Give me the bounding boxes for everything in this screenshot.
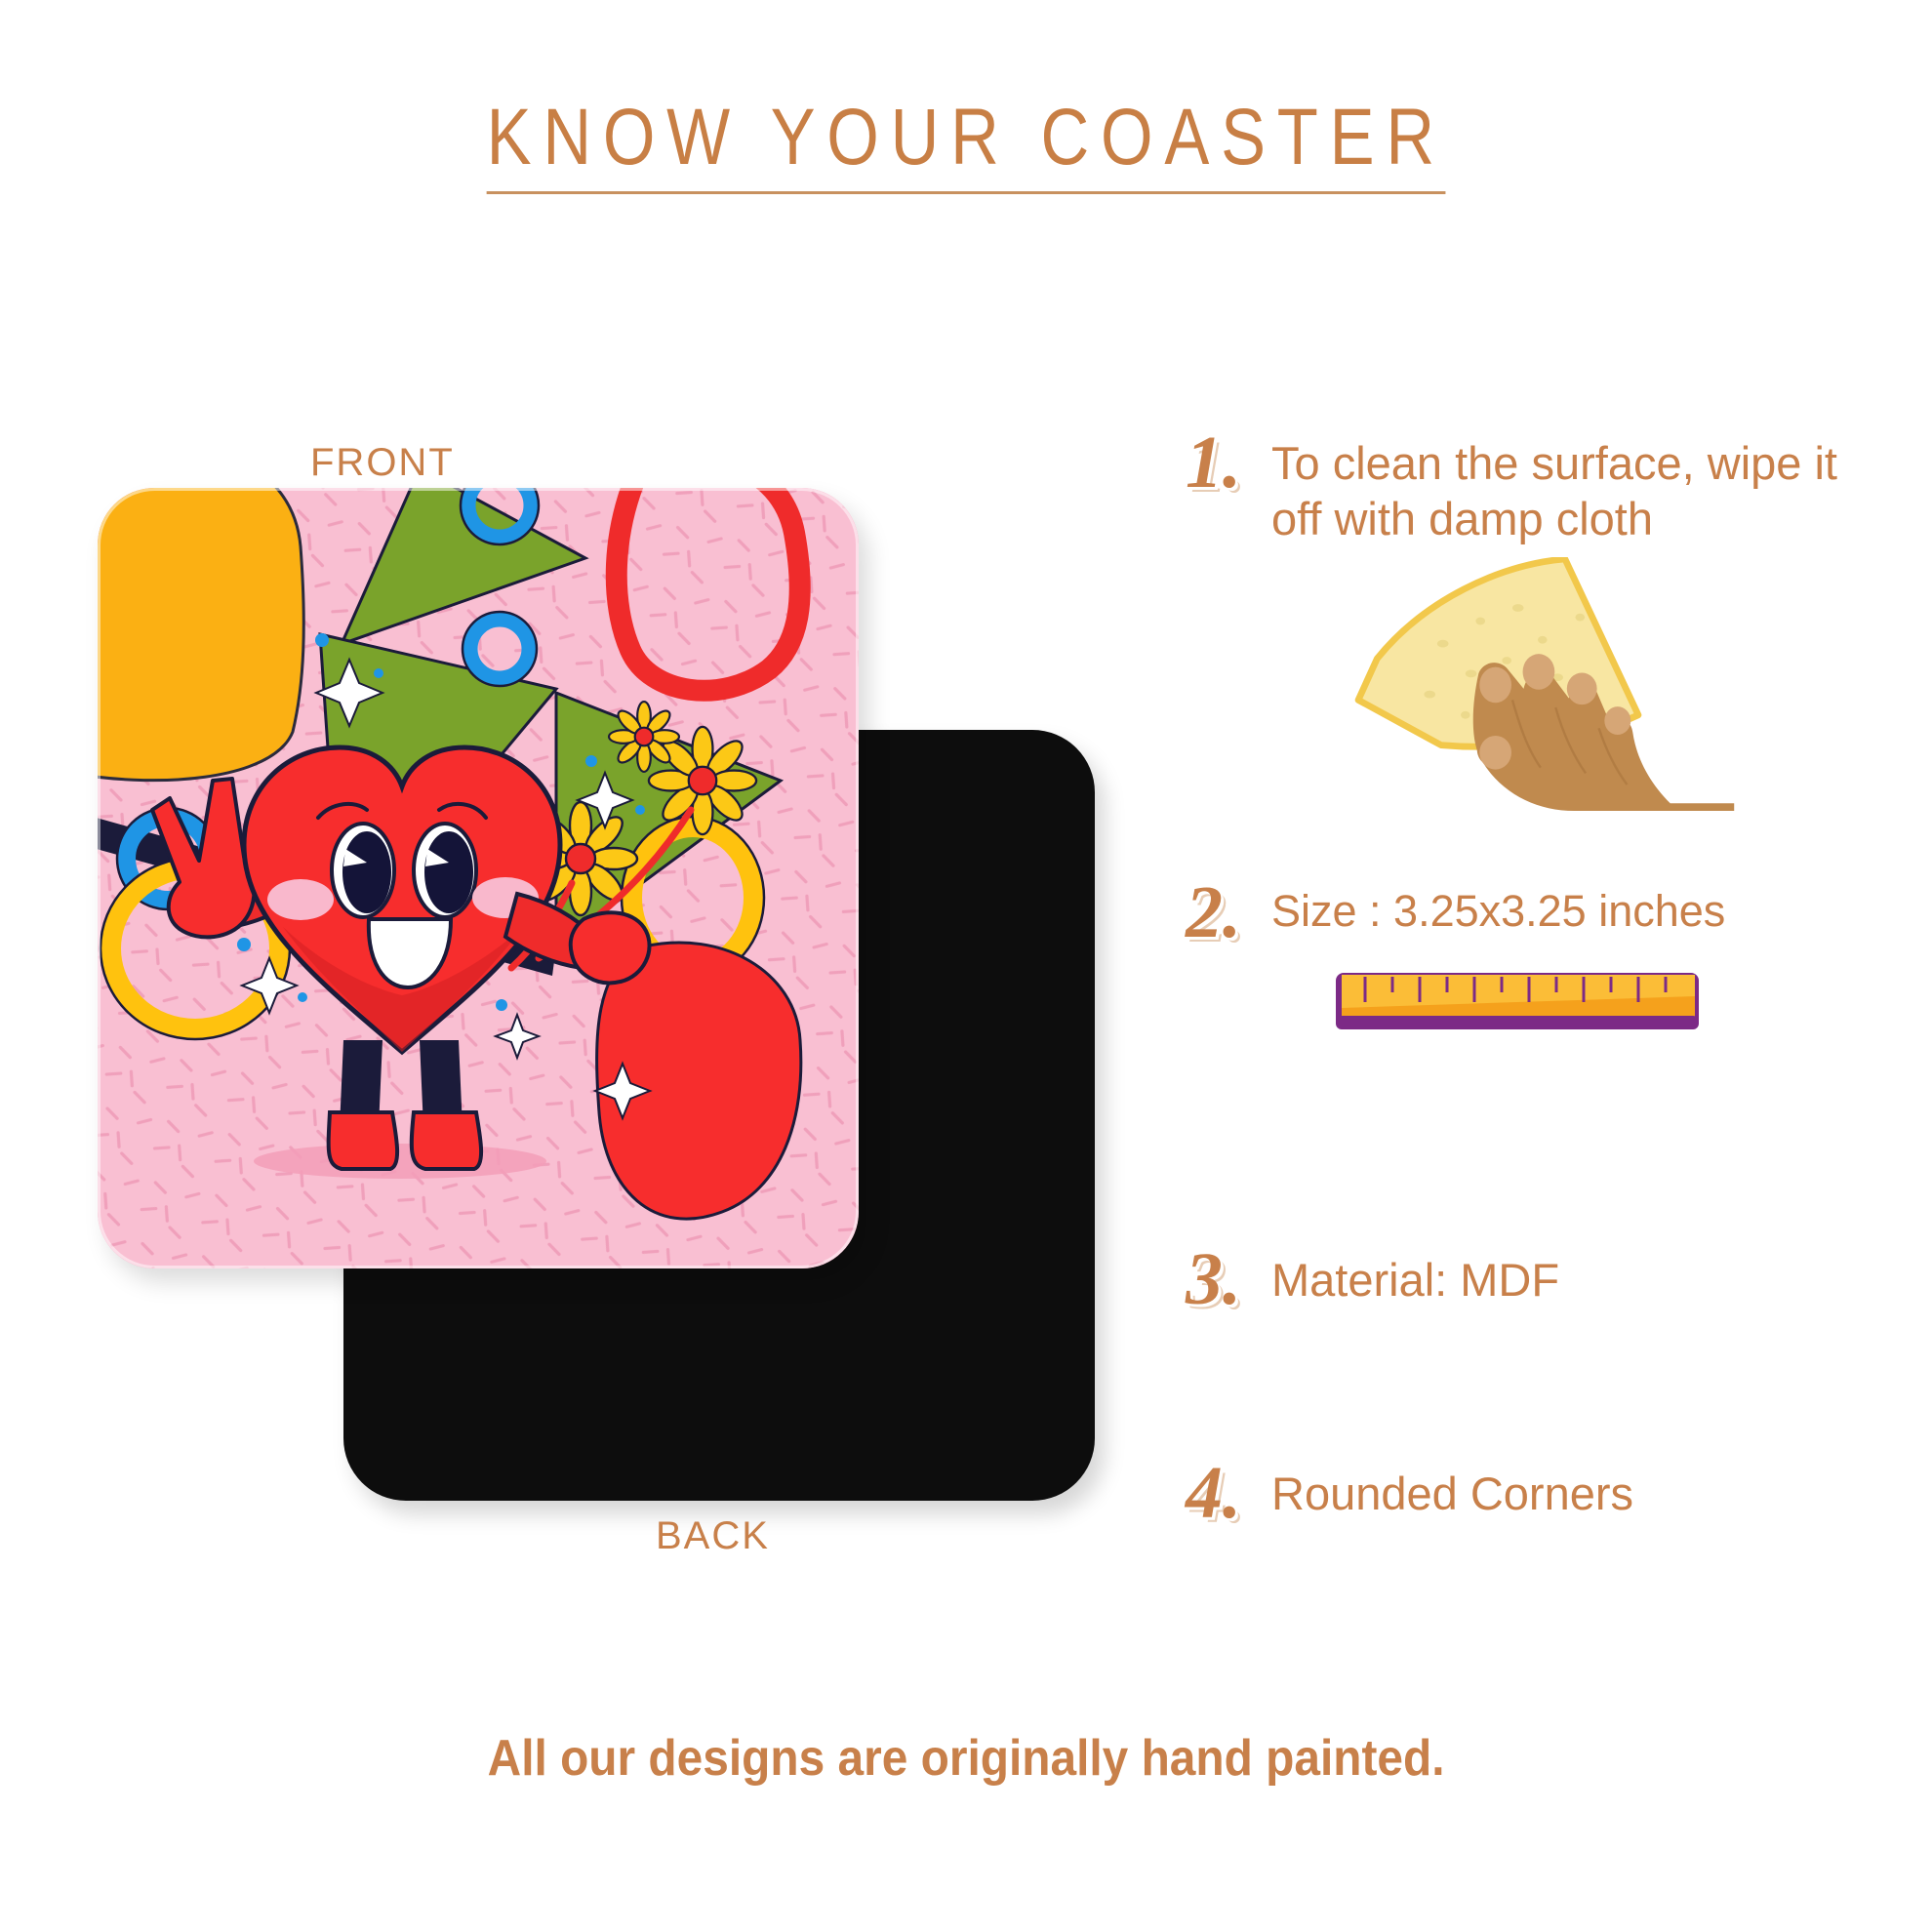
ruler-edge: [1336, 1016, 1699, 1029]
instruction-step-2: 2. Size : 3.25x3.25 inches: [1186, 879, 1888, 1041]
step-number-4: 4.: [1186, 1460, 1271, 1528]
footer-section: All our designs are originally hand pain…: [0, 1729, 1932, 1788]
character-right-boot: [412, 1112, 481, 1169]
instruction-step-3: 3. Material: MDF: [1186, 1246, 1888, 1314]
step-text-2: Size : 3.25x3.25 inches: [1271, 879, 1725, 939]
instruction-step-4: 4. Rounded Corners: [1186, 1460, 1888, 1528]
hand-with-sponge-icon: [1332, 557, 1742, 811]
back-label: BACK: [656, 1514, 770, 1558]
yellow-blob-shape: [98, 488, 303, 781]
character-pupil-left: [342, 831, 391, 913]
step-text-4: Rounded Corners: [1271, 1460, 1633, 1521]
coaster-front-face: [98, 488, 859, 1268]
front-label: FRONT: [310, 441, 455, 485]
character-shadow: [254, 1144, 546, 1179]
footer-tagline: All our designs are originally hand pain…: [488, 1729, 1445, 1788]
step-number-3: 3.: [1186, 1246, 1271, 1314]
ruler-icon: [1332, 963, 1703, 1041]
instructions-panel: 1. To clean the surface, wipe it off wit…: [1186, 429, 1888, 1528]
step-text-1: To clean the surface, wipe it off with d…: [1271, 429, 1888, 547]
instruction-step-1: 1. To clean the surface, wipe it off wit…: [1186, 429, 1888, 811]
title-section: KNOW YOUR COASTER: [0, 98, 1932, 194]
character-blush-left: [267, 879, 334, 920]
character-pupil-right: [424, 831, 473, 913]
step-text-3: Material: MDF: [1271, 1246, 1559, 1308]
step-number-2: 2.: [1186, 879, 1271, 947]
character-left-boot: [329, 1112, 397, 1169]
coaster-front-artwork: [98, 488, 859, 1268]
sunflower-small: [609, 702, 679, 772]
step-number-1: 1.: [1186, 429, 1271, 498]
page-title: KNOW YOUR COASTER: [486, 98, 1445, 194]
